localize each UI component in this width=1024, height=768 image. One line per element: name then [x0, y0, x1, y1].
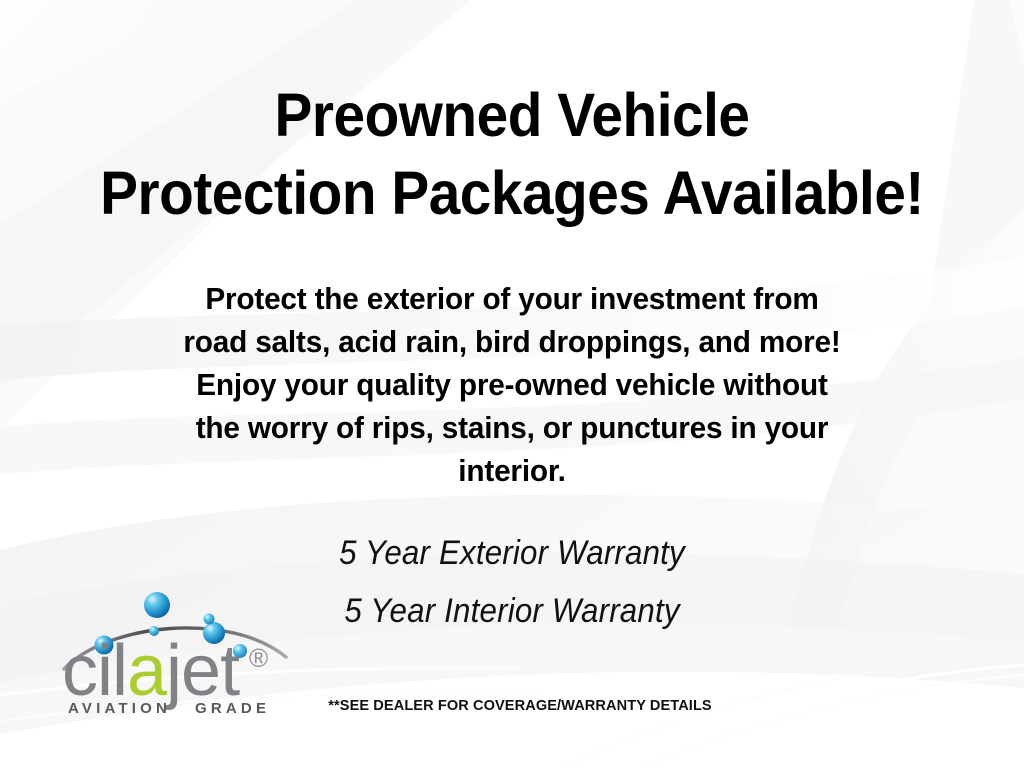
logo-wordmark-cil: cil: [62, 631, 127, 711]
body-copy-line: Enjoy your quality pre-owned vehicle wit…: [20, 363, 1003, 406]
logo-wordmark: cilajet: [62, 631, 240, 711]
slide-canvas: Preowned Vehicle Protection Packages Ava…: [0, 0, 1024, 768]
registered-trademark-icon: ®: [249, 643, 268, 673]
body-copy-paragraph: Protect the exterior of your investment …: [20, 277, 1003, 492]
logo-wordmark-jet: jet: [164, 631, 240, 711]
body-copy-line: Protect the exterior of your investment …: [20, 277, 1003, 320]
logo-tagline-aviation: AVIATION: [68, 700, 171, 715]
headline-line-2: Protection Packages Available!: [36, 154, 988, 232]
logo-tagline-grade: GRADE: [195, 700, 270, 715]
logo-bubble-large: [144, 592, 170, 618]
logo-bubble-small: [204, 614, 215, 625]
logo-wordmark-a: a: [127, 631, 168, 711]
body-copy-line: road salts, acid rain, bird droppings, a…: [20, 320, 1003, 363]
body-copy-line: the worry of rips, stains, or punctures …: [20, 406, 1003, 449]
body-copy-line: interior.: [20, 449, 1003, 492]
cilajet-logo: cilajet ® AVIATION GRADE: [62, 583, 292, 715]
disclaimer-text: **SEE DEALER FOR COVERAGE/WARRANTY DETAI…: [248, 697, 791, 714]
warranty-exterior-text: 5 Year Exterior Warranty: [41, 533, 983, 573]
headline-line-1: Preowned Vehicle: [36, 76, 988, 154]
